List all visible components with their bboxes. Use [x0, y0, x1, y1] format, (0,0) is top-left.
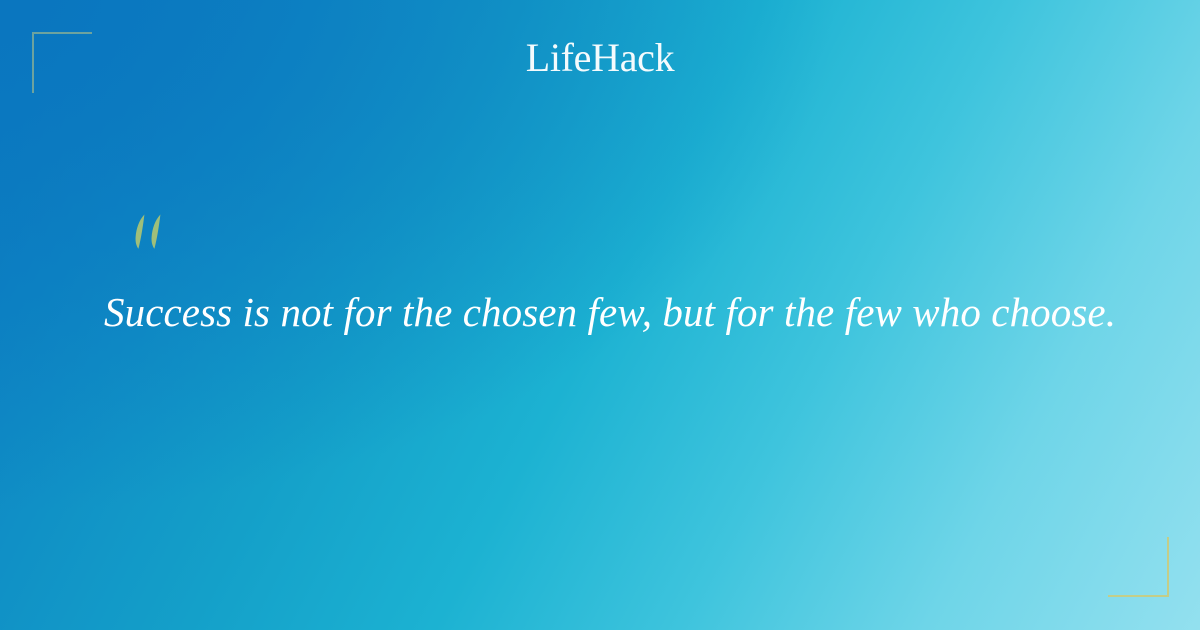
brand-header: LifeHack [0, 38, 1200, 78]
corner-bracket-bottom-right-icon [1108, 537, 1169, 597]
quote-container: Success is not for the chosen few, but f… [104, 288, 1144, 336]
bracket-horizontal-line [1108, 595, 1169, 597]
brand-logo-text[interactable]: LifeHack [526, 38, 675, 78]
quote-card: LifeHack Success is not for the chosen f… [0, 0, 1200, 630]
quotation-mark-icon [131, 212, 177, 264]
bracket-horizontal-line [32, 32, 92, 34]
bracket-vertical-line [1167, 537, 1169, 597]
quote-text: Success is not for the chosen few, but f… [104, 288, 1144, 336]
